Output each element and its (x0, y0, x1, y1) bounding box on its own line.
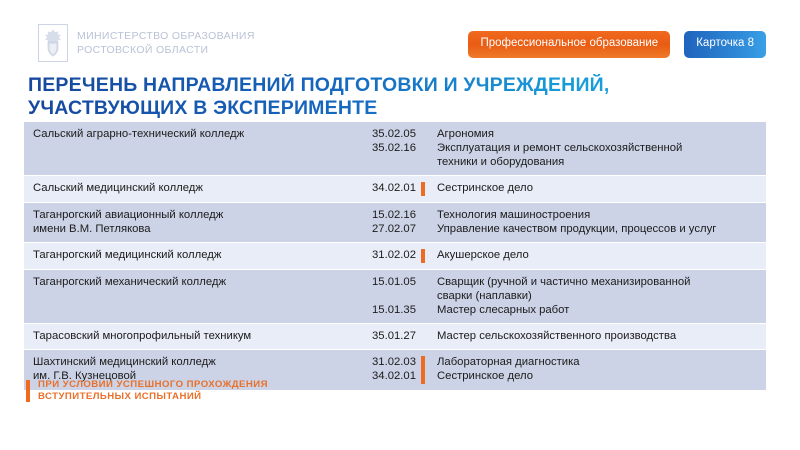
table-row: Сальский медицинский колледж34.02.01Сест… (24, 176, 766, 203)
cell-institution: Таганрогский авиационный колледжимени В.… (24, 203, 354, 243)
institution-line: Сальский аграрно-технический колледж (33, 127, 348, 141)
institution-line: имени В.М. Петлякова (33, 222, 348, 236)
cell-programs: Лабораторная диагностикаСестринское дело (430, 350, 766, 391)
cell-programs: Сестринское дело (430, 176, 766, 203)
specialty-code: 15.01.35 (354, 303, 416, 317)
program-name: Агрономия (437, 127, 760, 141)
program-name: Управление качеством продукции, процессо… (437, 222, 760, 236)
table-row: Таганрогский медицинский колледж31.02.02… (24, 243, 766, 270)
cell-specialty-codes: 35.01.27 (354, 324, 416, 350)
program-name: Мастер слесарных работ (437, 303, 760, 317)
specialty-code: 27.02.07 (354, 222, 416, 236)
cell-programs: АгрономияЭксплуатация и ремонт сельскохо… (430, 122, 766, 176)
ministry-brand: МИНИСТЕРСТВО ОБРАЗОВАНИЯ РОСТОВСКОЙ ОБЛА… (38, 24, 255, 62)
specialty-code: 34.02.01 (354, 369, 416, 383)
cell-programs: Технология машиностроенияУправление каче… (430, 203, 766, 243)
institution-line: Таганрогский медицинский колледж (33, 248, 348, 262)
cell-specialty-codes: 31.02.0334.02.01 (354, 350, 416, 391)
table-row: Сальский аграрно-технический колледж35.0… (24, 122, 766, 176)
coat-of-arms-icon (38, 24, 68, 62)
header-badges: Профессиональное образование Карточка 8 (468, 31, 766, 58)
slide-root: МИНИСТЕРСТВО ОБРАЗОВАНИЯ РОСТОВСКОЙ ОБЛА… (0, 0, 800, 450)
programs-table: Сальский аграрно-технический колледж35.0… (24, 122, 766, 391)
program-name: техники и оборудования (437, 155, 760, 169)
program-name: Сестринское дело (437, 369, 760, 383)
specialty-code: 15.01.05 (354, 275, 416, 289)
cell-marker (416, 270, 430, 324)
footnote-marker-icon (26, 380, 30, 402)
cell-specialty-codes: 34.02.01 (354, 176, 416, 203)
footnote-line-2: ВСТУПИТЕЛЬНЫХ ИСПЫТАНИЙ (38, 391, 268, 403)
specialty-code: 31.02.02 (354, 248, 416, 262)
specialty-code: 34.02.01 (354, 181, 416, 195)
cell-marker (416, 324, 430, 350)
page-title-line-2: УЧАСТВУЮЩИХ В ЭКСПЕРИМЕНТЕ (28, 97, 768, 120)
program-name: Мастер сельскохозяйственного производств… (437, 329, 760, 343)
footnote-text: ПРИ УСЛОВИИ УСПЕШНОГО ПРОХОЖДЕНИЯ ВСТУПИ… (38, 379, 268, 402)
entrance-exam-marker-icon (421, 356, 425, 384)
specialty-code: 35.02.16 (354, 141, 416, 155)
program-name: Эксплуатация и ремонт сельскохозяйственн… (437, 141, 760, 155)
cell-specialty-codes: 15.01.05 15.01.35 (354, 270, 416, 324)
programs-table-body: Сальский аграрно-технический колледж35.0… (24, 122, 766, 391)
slide-header: МИНИСТЕРСТВО ОБРАЗОВАНИЯ РОСТОВСКОЙ ОБЛА… (0, 0, 800, 70)
specialty-code: 35.01.27 (354, 329, 416, 343)
cell-institution: Таганрогский медицинский колледж (24, 243, 354, 270)
badge-card-number[interactable]: Карточка 8 (684, 31, 766, 58)
table-row: Тарасовский многопрофильный техникум35.0… (24, 324, 766, 350)
table-row: Таганрогский авиационный колледжимени В.… (24, 203, 766, 243)
page-title: ПЕРЕЧЕНЬ НАПРАВЛЕНИЙ ПОДГОТОВКИ И УЧРЕЖД… (28, 74, 768, 120)
cell-specialty-codes: 31.02.02 (354, 243, 416, 270)
cell-specialty-codes: 15.02.1627.02.07 (354, 203, 416, 243)
table-row: Таганрогский механический колледж15.01.0… (24, 270, 766, 324)
cell-institution: Таганрогский механический колледж (24, 270, 354, 324)
cell-programs: Акушерское дело (430, 243, 766, 270)
cell-specialty-codes: 35.02.0535.02.16 (354, 122, 416, 176)
cell-institution: Тарасовский многопрофильный техникум (24, 324, 354, 350)
program-name: Технология машиностроения (437, 208, 760, 222)
ministry-line-1: МИНИСТЕРСТВО ОБРАЗОВАНИЯ (77, 30, 255, 43)
program-name: сварки (наплавки) (437, 289, 760, 303)
page-title-line-1: ПЕРЕЧЕНЬ НАПРАВЛЕНИЙ ПОДГОТОВКИ И УЧРЕЖД… (28, 74, 768, 97)
cell-marker (416, 176, 430, 203)
program-name: Акушерское дело (437, 248, 760, 262)
ministry-line-2: РОСТОВСКОЙ ОБЛАСТИ (77, 44, 255, 57)
cell-marker (416, 122, 430, 176)
footnote-line-1: ПРИ УСЛОВИИ УСПЕШНОГО ПРОХОЖДЕНИЯ (38, 379, 268, 391)
entrance-exam-marker-icon (421, 182, 425, 196)
cell-marker (416, 350, 430, 391)
ministry-name: МИНИСТЕРСТВО ОБРАЗОВАНИЯ РОСТОВСКОЙ ОБЛА… (77, 30, 255, 57)
footnote: ПРИ УСЛОВИИ УСПЕШНОГО ПРОХОЖДЕНИЯ ВСТУПИ… (26, 379, 268, 402)
specialty-code: 35.02.05 (354, 127, 416, 141)
institution-line: Таганрогский авиационный колледж (33, 208, 348, 222)
cell-programs: Сварщик (ручной и частично механизирован… (430, 270, 766, 324)
entrance-exam-marker-icon (421, 249, 425, 263)
specialty-code: 15.02.16 (354, 208, 416, 222)
institution-line: Сальский медицинский колледж (33, 181, 348, 195)
program-name: Сестринское дело (437, 181, 760, 195)
institution-line: Шахтинский медицинский колледж (33, 355, 348, 369)
program-name: Сварщик (ручной и частично механизирован… (437, 275, 760, 289)
institution-line: Таганрогский механический колледж (33, 275, 348, 289)
cell-institution: Сальский медицинский колледж (24, 176, 354, 203)
specialty-code: 31.02.03 (354, 355, 416, 369)
institution-line: Тарасовский многопрофильный техникум (33, 329, 348, 343)
badge-category[interactable]: Профессиональное образование (468, 31, 670, 58)
cell-marker (416, 203, 430, 243)
cell-institution: Сальский аграрно-технический колледж (24, 122, 354, 176)
program-name: Лабораторная диагностика (437, 355, 760, 369)
cell-programs: Мастер сельскохозяйственного производств… (430, 324, 766, 350)
cell-marker (416, 243, 430, 270)
